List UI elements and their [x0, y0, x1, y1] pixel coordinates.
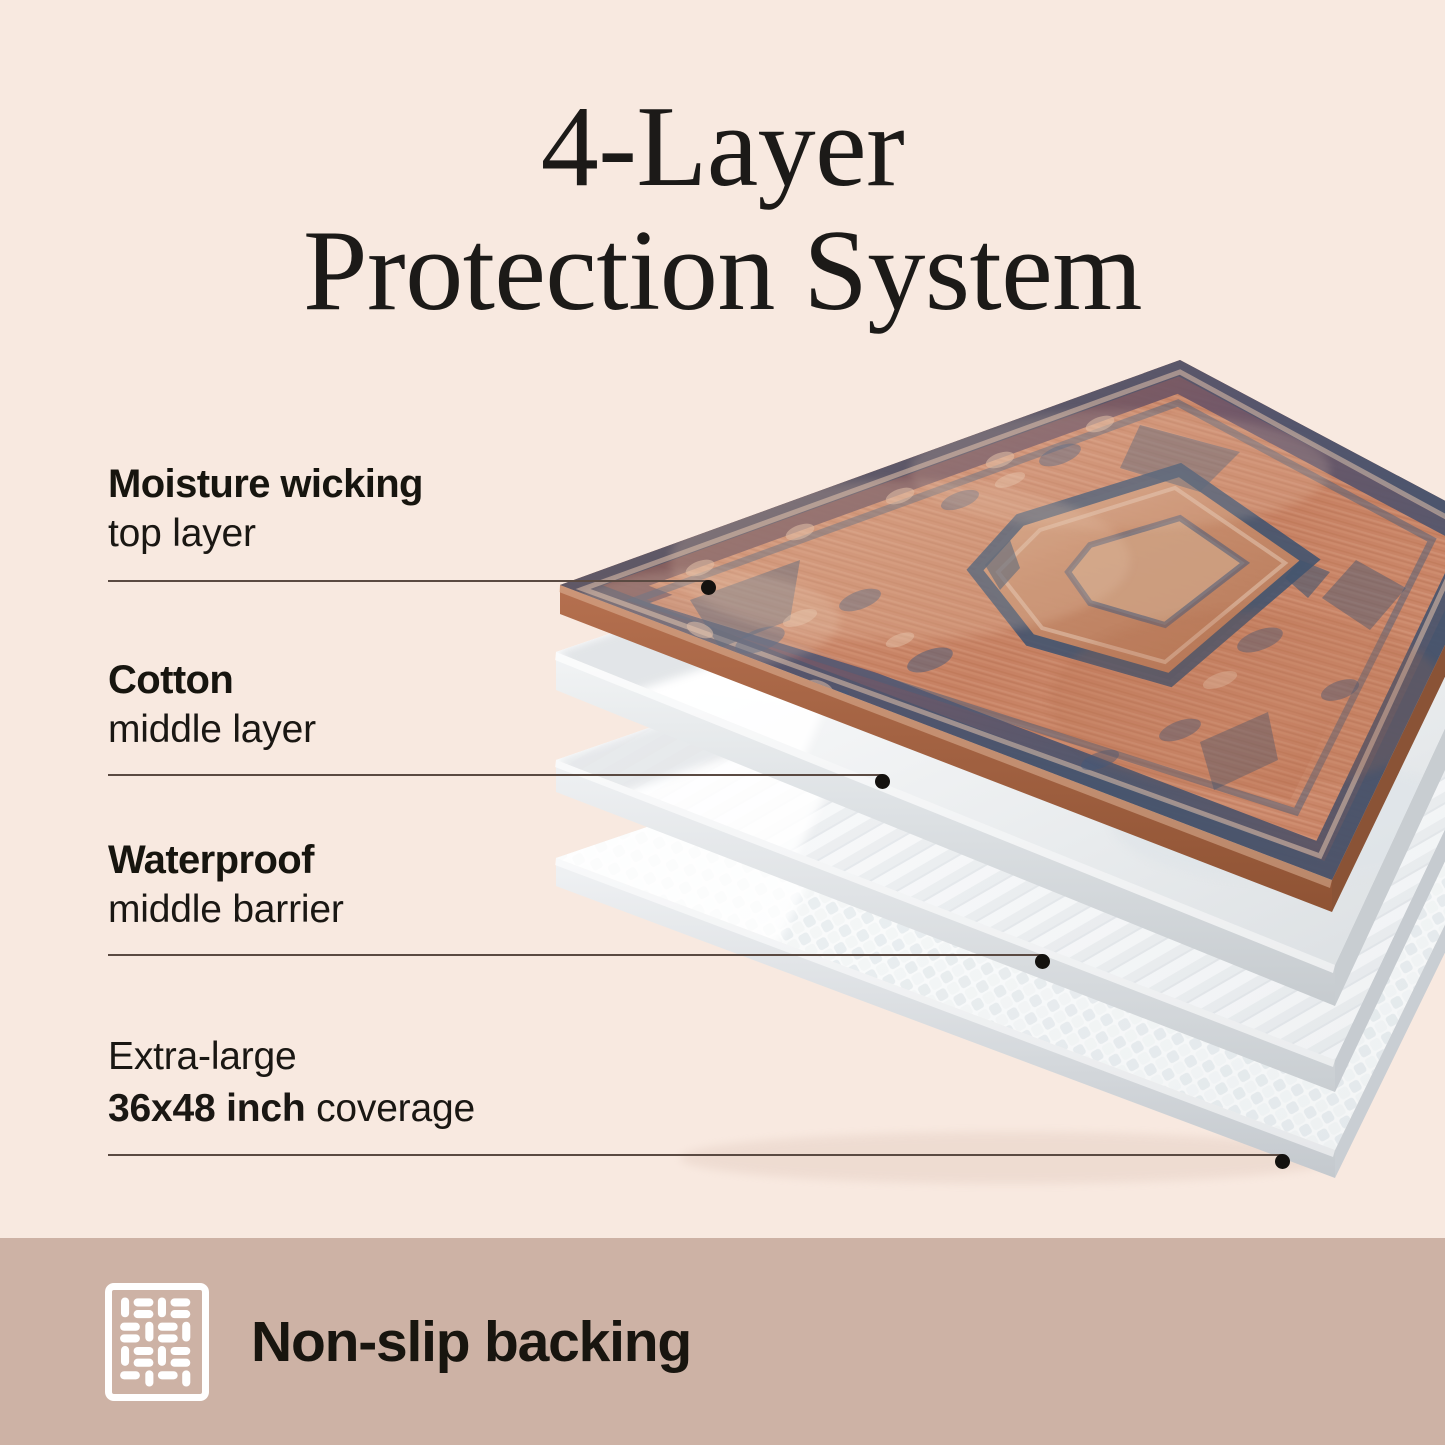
layer-waterproof-barrier — [540, 540, 1445, 1092]
leader-line-1 — [108, 580, 708, 582]
layer-rug-top — [559, 360, 1445, 912]
infographic-canvas: 4-Layer Protection System Moisture wicki… — [0, 0, 1445, 1445]
label-subtitle: middle layer — [108, 707, 316, 753]
title-line-2: Protection System — [0, 212, 1445, 330]
size-line-1: Extra-large — [108, 1034, 475, 1080]
size-value: 36x48 inch — [108, 1087, 305, 1130]
label-cotton: Cotton middle layer — [108, 658, 316, 753]
leader-dot-1 — [701, 580, 716, 595]
leader-line-3 — [108, 954, 1043, 956]
leader-dot-3 — [1035, 954, 1050, 969]
label-moisture-wicking: Moisture wicking top layer — [108, 462, 423, 557]
leader-dot-4 — [1275, 1154, 1290, 1169]
non-slip-weave-icon — [105, 1283, 209, 1401]
leader-line-4 — [108, 1154, 1283, 1156]
layer-backing — [540, 640, 1445, 1184]
leader-line-2 — [108, 774, 883, 776]
non-slip-banner: Non-slip backing — [0, 1238, 1445, 1445]
size-suffix: coverage — [305, 1087, 474, 1130]
label-heading: Cotton — [108, 658, 316, 703]
page-title: 4-Layer Protection System — [0, 88, 1445, 331]
label-size-coverage: Extra-large 36x48 inch coverage — [108, 1034, 475, 1132]
title-line-1: 4-Layer — [0, 88, 1445, 206]
non-slip-label: Non-slip backing — [251, 1309, 691, 1375]
layer-cotton-batting — [540, 436, 1445, 1006]
leader-dot-2 — [875, 774, 890, 789]
label-subtitle: middle barrier — [108, 887, 344, 933]
label-waterproof: Waterproof middle barrier — [108, 838, 344, 933]
label-subtitle: top layer — [108, 511, 423, 557]
label-heading: Waterproof — [108, 838, 344, 883]
label-heading: Moisture wicking — [108, 462, 423, 507]
